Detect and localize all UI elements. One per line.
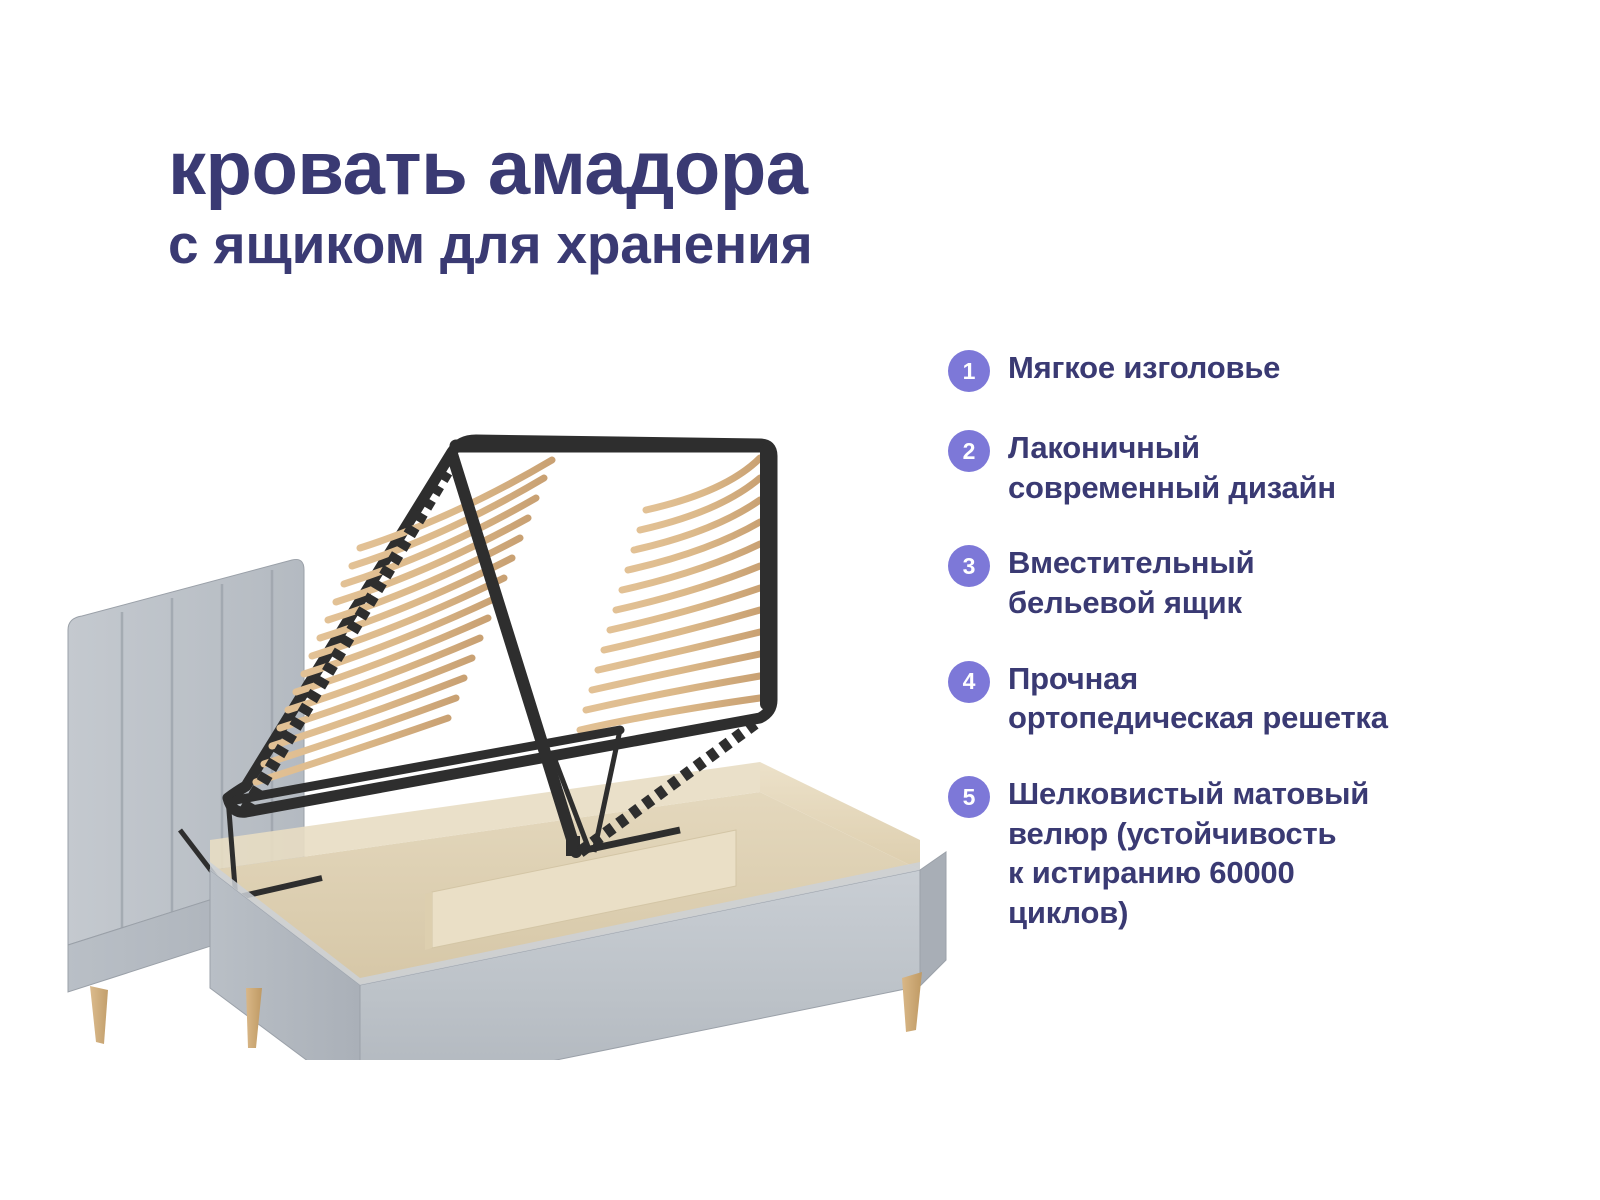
page-title: кровать амадора — [168, 132, 1168, 206]
feature-label-2: Лаконичный современный дизайн — [1008, 428, 1336, 507]
feature-item-3: 3 Вместительный бельевой ящик — [948, 543, 1488, 622]
feature-list: 1 Мягкое изголовье 2 Лаконичный современ… — [948, 348, 1488, 933]
feature-badge-2: 2 — [948, 430, 990, 472]
feature-label-1: Мягкое изголовье — [1008, 348, 1280, 388]
feature-label-4: Прочная ортопедическая решетка — [1008, 659, 1388, 738]
feature-badge-3: 3 — [948, 545, 990, 587]
feature-item-5: 5 Шелковистый матовый велюр (устойчивост… — [948, 774, 1488, 933]
feature-badge-5: 5 — [948, 776, 990, 818]
feature-badge-4: 4 — [948, 661, 990, 703]
feature-item-1: 1 Мягкое изголовье — [948, 348, 1488, 392]
infographic-page: кровать амадора с ящиком для хранения — [0, 0, 1600, 1200]
product-image — [60, 400, 960, 1060]
heading-block: кровать амадора с ящиком для хранения — [168, 132, 1168, 274]
feature-item-4: 4 Прочная ортопедическая решетка — [948, 659, 1488, 738]
feature-item-2: 2 Лаконичный современный дизайн — [948, 428, 1488, 507]
feature-label-3: Вместительный бельевой ящик — [1008, 543, 1254, 622]
page-subtitle: с ящиком для хранения — [168, 216, 1168, 274]
feature-badge-1: 1 — [948, 350, 990, 392]
feature-label-5: Шелковистый матовый велюр (устойчивость … — [1008, 774, 1369, 933]
